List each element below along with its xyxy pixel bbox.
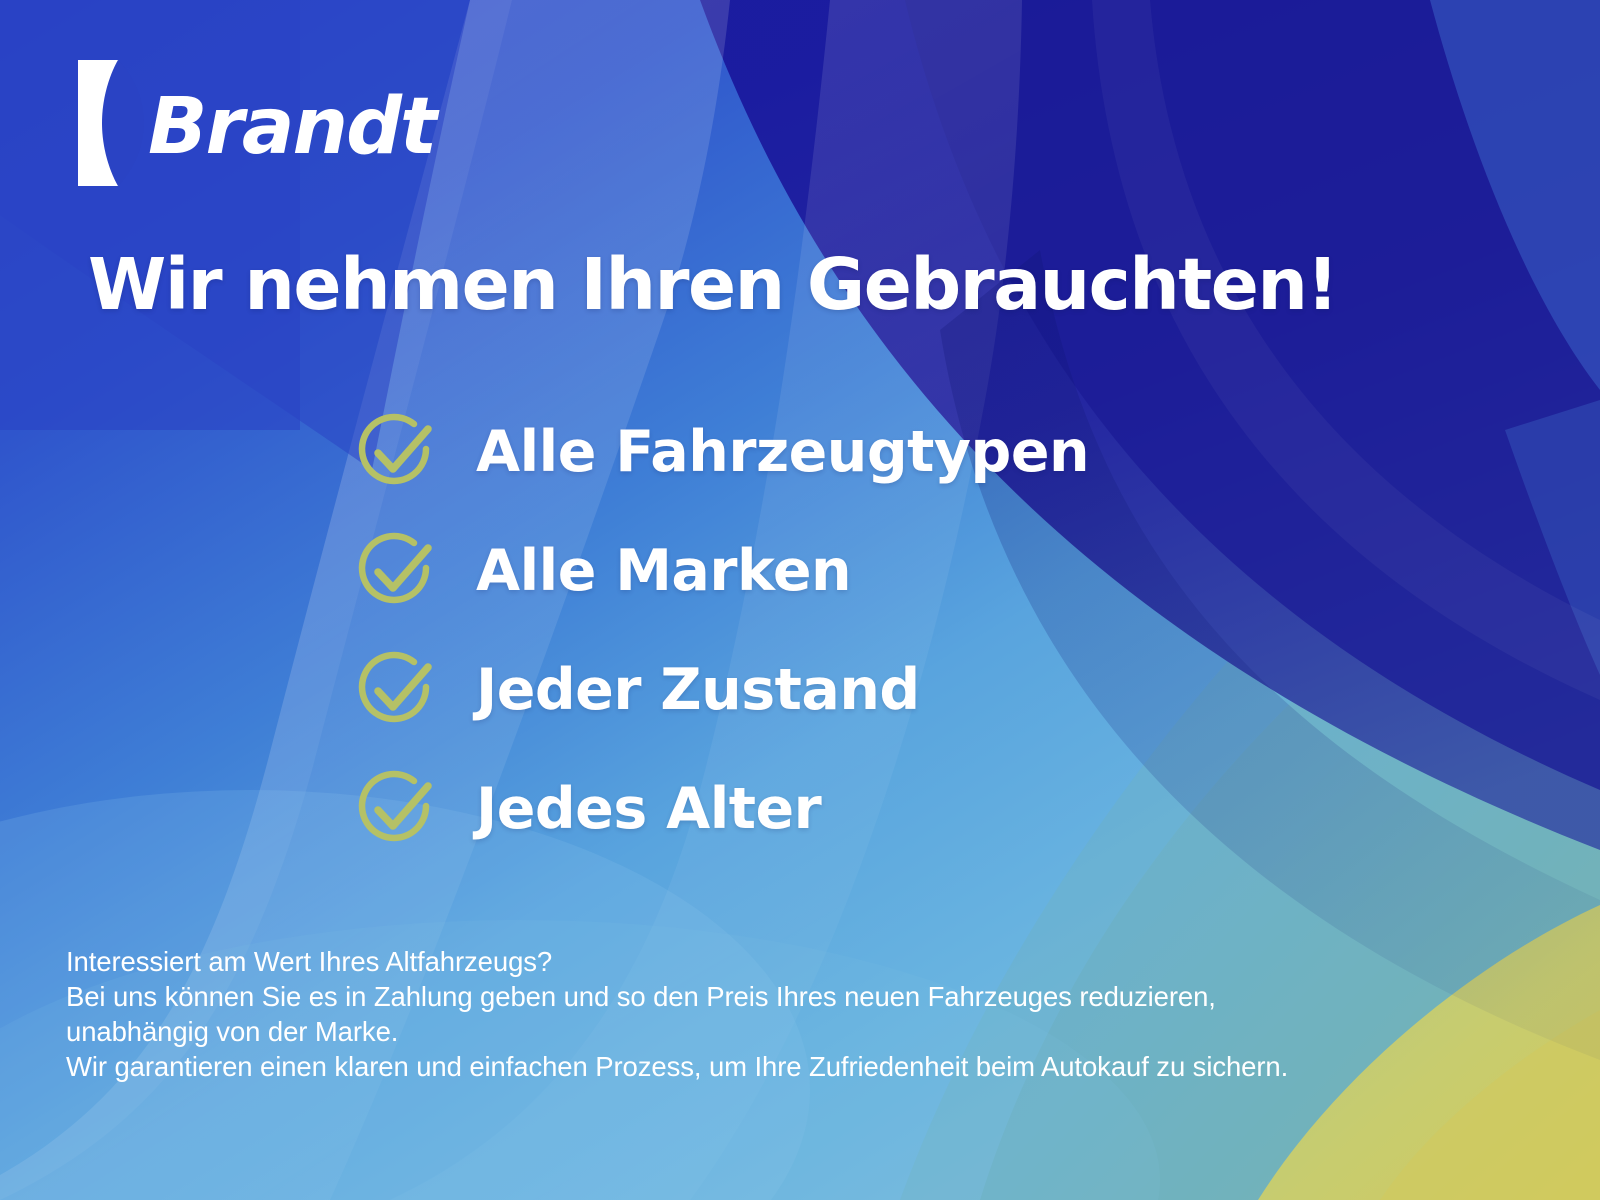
list-item-label: Alle Marken bbox=[476, 538, 851, 604]
circle-check-icon bbox=[352, 527, 440, 615]
list-item: Jeder Zustand bbox=[352, 630, 1089, 749]
brand-name: Brandt bbox=[148, 88, 435, 166]
body-copy-line: Wir garantieren einen klaren und einfach… bbox=[66, 1049, 1486, 1084]
body-copy-line: Bei uns können Sie es in Zahlung geben u… bbox=[66, 979, 1486, 1014]
promo-poster: Brandt Wir nehmen Ihren Gebrauchten! All… bbox=[0, 0, 1600, 1200]
body-copy-line: Interessiert am Wert Ihres Altfahrzeugs? bbox=[66, 944, 1486, 979]
circle-check-icon bbox=[352, 646, 440, 734]
list-item-label: Jeder Zustand bbox=[476, 657, 920, 723]
body-copy: Interessiert am Wert Ihres Altfahrzeugs?… bbox=[66, 944, 1486, 1084]
page-title: Wir nehmen Ihren Gebrauchten! bbox=[88, 248, 1337, 322]
circle-check-icon bbox=[352, 408, 440, 496]
list-item-label: Alle Fahrzeugtypen bbox=[476, 419, 1089, 485]
list-item: Jedes Alter bbox=[352, 749, 1089, 868]
poster-content: Brandt Wir nehmen Ihren Gebrauchten! All… bbox=[0, 0, 1600, 1200]
list-item: Alle Fahrzeugtypen bbox=[352, 392, 1089, 511]
brand-logo: Brandt bbox=[72, 58, 435, 188]
list-item-label: Jedes Alter bbox=[476, 776, 821, 842]
circle-check-icon bbox=[352, 765, 440, 853]
bracket-curve-mark-icon bbox=[72, 58, 144, 188]
list-item: Alle Marken bbox=[352, 511, 1089, 630]
body-copy-line: unabhängig von der Marke. bbox=[66, 1014, 1486, 1049]
feature-list: Alle Fahrzeugtypen Alle Marken Jeder Zus… bbox=[352, 392, 1089, 868]
